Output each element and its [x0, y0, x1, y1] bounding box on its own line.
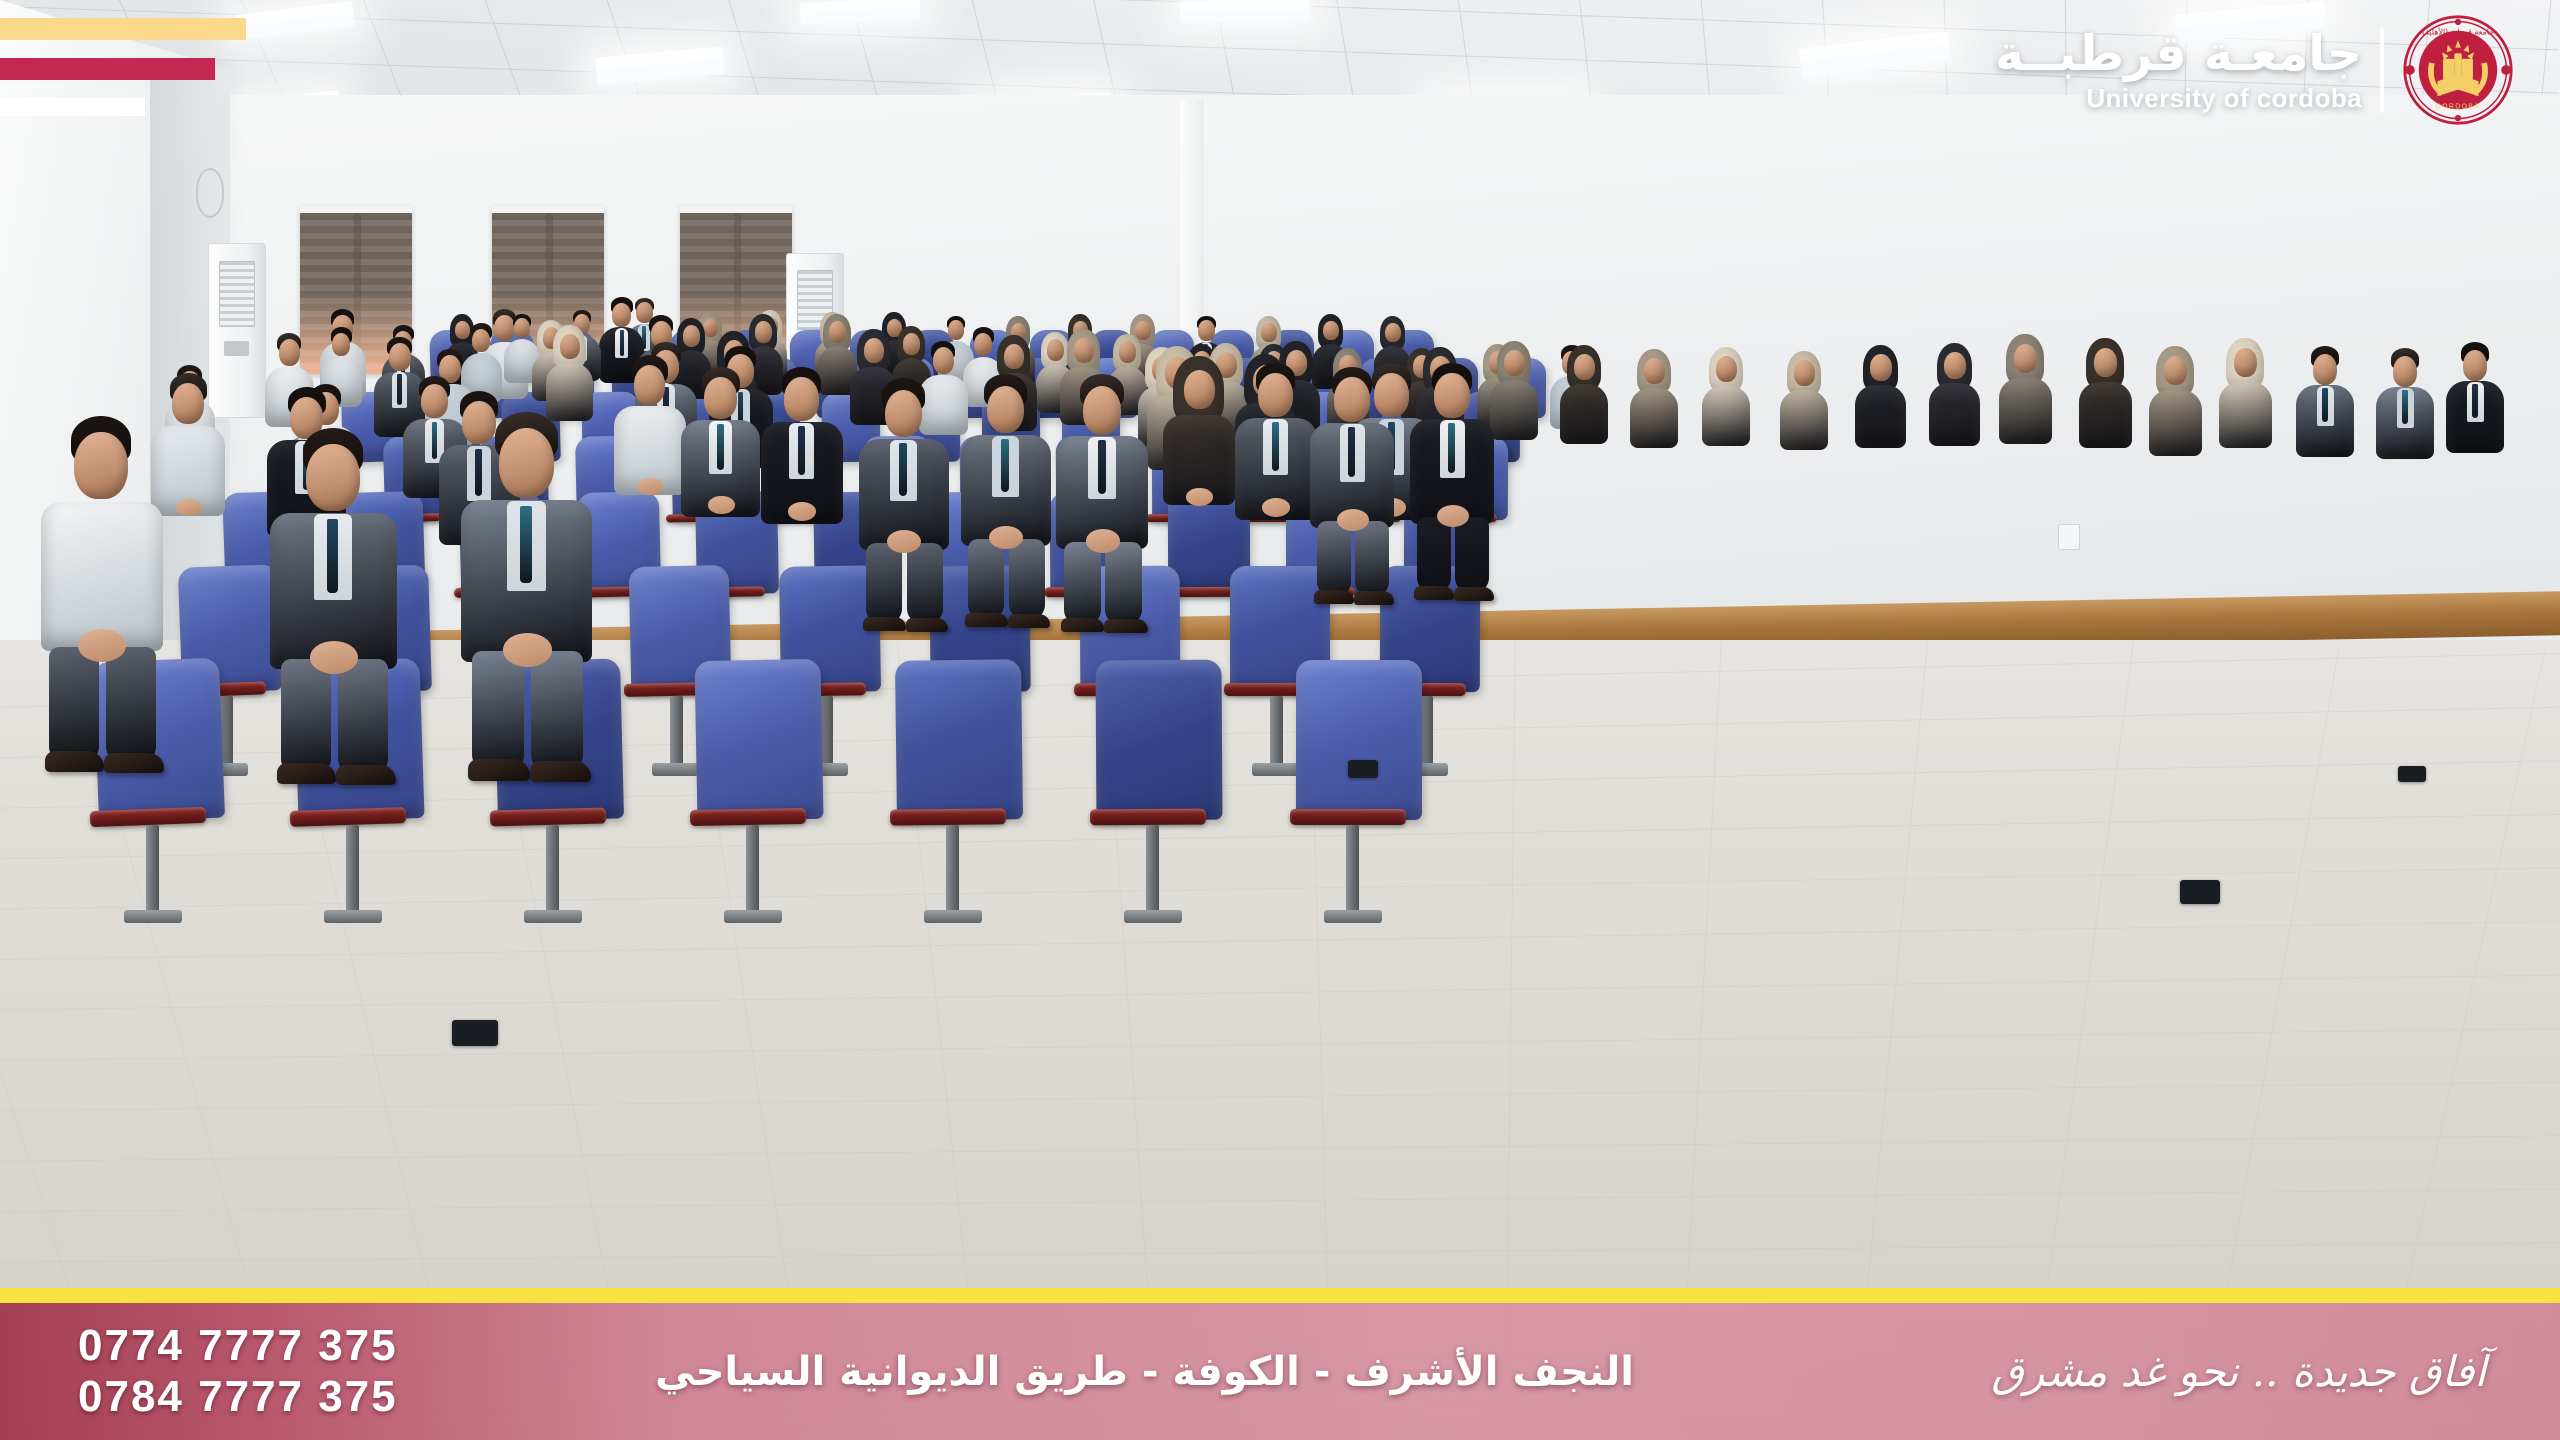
seat-armrest: [890, 808, 1006, 825]
face: [1870, 354, 1892, 381]
necktie: [327, 519, 338, 593]
face: [462, 401, 496, 444]
brand-name-arabic: جامعـة قرطبــة: [1995, 29, 2362, 78]
white-accent-bar: [0, 98, 145, 116]
shoe: [336, 765, 396, 785]
seat-foot: [1324, 910, 1382, 923]
seal-bottom-label: CORDOBA: [2436, 103, 2481, 110]
seat-foot: [524, 910, 582, 923]
face: [1374, 373, 1409, 417]
shoe: [277, 763, 337, 783]
face: [472, 329, 490, 352]
seat-armrest: [490, 807, 606, 826]
auditorium-seat: [694, 659, 823, 821]
face: [1385, 323, 1401, 342]
seat-leg: [1346, 825, 1359, 913]
face: [1716, 356, 1737, 382]
smartphone: [452, 1020, 498, 1046]
brand-name-english: University of cordoba: [1995, 85, 2362, 111]
seat-foot: [1124, 910, 1182, 923]
necktie: [798, 426, 805, 474]
face: [279, 339, 300, 366]
ac-unit-left: [208, 243, 266, 418]
leg: [907, 543, 943, 624]
smartphone: [1348, 760, 1378, 778]
face: [948, 320, 964, 340]
leg: [1064, 542, 1101, 624]
face: [1135, 321, 1151, 340]
face: [1334, 377, 1369, 422]
shoe: [1354, 591, 1394, 605]
auditorium-seat: [895, 659, 1023, 821]
torso: [1560, 384, 1608, 444]
face: [885, 390, 923, 438]
face: [634, 365, 665, 405]
contact-phone-numbers: 0774 7777 375 0784 7777 375: [58, 1321, 398, 1421]
face: [332, 333, 350, 356]
smartphone: [2180, 880, 2220, 904]
face: [306, 444, 359, 511]
lecture-hall-photo: [0, 0, 2560, 1440]
seat-armrest: [1090, 808, 1206, 825]
face: [1083, 386, 1122, 435]
torso: [546, 363, 593, 421]
face: [2094, 348, 2117, 377]
smartphone: [2398, 766, 2426, 782]
face: [1261, 323, 1277, 342]
seat-foot: [924, 910, 982, 923]
shoe: [45, 751, 105, 771]
seal-top-label: جامعة قرطبة (الأهلية): [2422, 27, 2494, 37]
leg: [1417, 517, 1451, 593]
face: [494, 315, 514, 341]
leg: [1317, 521, 1351, 597]
hands: [78, 629, 126, 662]
torso: [919, 375, 968, 435]
face: [1004, 344, 1024, 369]
seat-leg: [546, 825, 559, 913]
gold-accent-bar: [0, 18, 246, 40]
seat-foot: [124, 910, 182, 923]
leg: [472, 651, 524, 769]
leg: [968, 539, 1004, 620]
face: [704, 377, 737, 419]
shoe: [906, 618, 948, 632]
torso: [2149, 390, 2203, 457]
necktie: [1448, 423, 1455, 473]
leg: [1455, 517, 1489, 593]
seat-foot: [652, 763, 698, 776]
torso: [1780, 390, 1828, 450]
brand-divider: [2380, 27, 2384, 113]
face: [2463, 350, 2487, 381]
seat-foot: [324, 910, 382, 923]
torso: [1702, 386, 1750, 446]
wall-socket-icon: [2058, 524, 2080, 550]
face: [1944, 352, 1966, 379]
shoe: [1061, 618, 1104, 633]
face: [1644, 358, 1665, 384]
necktie: [1001, 439, 1009, 492]
face: [1574, 354, 1595, 380]
shoe: [104, 753, 164, 773]
ceiling-light-8: [1180, 0, 1310, 23]
hands: [708, 496, 735, 514]
face: [683, 325, 700, 346]
necktie: [1098, 440, 1106, 494]
seat-armrest: [290, 807, 406, 827]
slogan-line: آفاق جديدة .. نحو غد مشرق: [1991, 1347, 2502, 1396]
shoe: [1414, 586, 1454, 600]
leg: [1009, 539, 1045, 620]
face: [499, 428, 554, 498]
seat-armrest: [1290, 809, 1406, 825]
poster-canvas: جامعـة قرطبــة University of cordoba: [0, 0, 2560, 1440]
seal-icon: CORDOBA جامعة قرطبة (الأهلية): [2402, 14, 2514, 126]
shoe: [863, 617, 905, 631]
necktie: [2322, 388, 2327, 422]
hands: [1086, 529, 1121, 553]
torso: [1855, 385, 1905, 447]
face: [1504, 350, 1525, 376]
necktie: [1272, 422, 1279, 470]
seat-foot: [724, 910, 782, 923]
torso: [2219, 382, 2273, 449]
face: [172, 383, 204, 424]
face: [974, 333, 992, 356]
hands: [1437, 505, 1469, 527]
face: [987, 386, 1025, 434]
face: [1047, 339, 1064, 360]
face: [1198, 320, 1215, 341]
face: [1434, 373, 1469, 418]
face: [933, 347, 954, 374]
hands: [638, 478, 663, 495]
necktie: [397, 374, 402, 405]
phone-number-1: 0774 7777 375: [78, 1321, 398, 1371]
seat-leg: [746, 825, 759, 913]
necktie: [1348, 427, 1355, 477]
shoe: [1454, 587, 1494, 601]
face: [389, 343, 411, 371]
face: [2313, 354, 2337, 385]
shoe: [965, 613, 1007, 627]
face: [1323, 321, 1339, 340]
shoe: [530, 761, 592, 782]
shoe: [1104, 619, 1147, 634]
necktie: [432, 422, 438, 459]
face: [1794, 360, 1815, 386]
seat-leg: [1270, 696, 1283, 765]
leg: [338, 659, 389, 773]
face: [784, 377, 819, 421]
leg: [106, 647, 157, 761]
face: [612, 303, 631, 327]
face: [560, 334, 580, 359]
face: [455, 321, 470, 340]
hands: [1337, 509, 1369, 531]
phone-number-2: 0784 7777 375: [78, 1372, 398, 1422]
auditorium-seat: [1096, 660, 1223, 821]
seat-leg: [146, 825, 159, 913]
seat-leg: [670, 696, 683, 765]
seat-armrest: [690, 808, 806, 826]
footer-yellow-stripe: [0, 1288, 2560, 1303]
torso: [1630, 388, 1678, 448]
face: [2393, 356, 2417, 387]
face: [1184, 370, 1215, 409]
face: [514, 318, 530, 338]
hands: [310, 641, 358, 674]
face: [2014, 344, 2037, 373]
footer-banner: 0774 7777 375 0784 7777 375 النجف الأشرف…: [0, 1288, 2560, 1440]
face: [1258, 373, 1293, 417]
face: [421, 384, 448, 418]
face: [903, 333, 920, 354]
crimson-accent-bar: [0, 58, 215, 80]
leg: [49, 647, 100, 761]
face: [829, 321, 846, 342]
face: [755, 321, 772, 342]
necktie: [717, 424, 724, 470]
necktie: [520, 506, 531, 583]
face: [864, 338, 884, 363]
leg: [1105, 542, 1142, 624]
necktie: [899, 443, 907, 496]
hands: [503, 633, 553, 667]
hands: [1262, 498, 1290, 516]
seat-foot: [1252, 763, 1298, 776]
hands: [788, 502, 816, 520]
leg: [531, 651, 583, 769]
seat-leg: [1146, 825, 1159, 913]
face: [2234, 348, 2257, 377]
shoe: [468, 759, 530, 780]
necktie: [2472, 384, 2477, 418]
seat-leg: [346, 825, 359, 913]
auditorium-seat: [1296, 660, 1422, 820]
hands: [1186, 488, 1213, 506]
necktie: [2402, 390, 2407, 424]
brand-wordmark: جامعـة قرطبــة University of cordoba: [1995, 29, 2362, 111]
face: [1074, 338, 1094, 363]
wall-bracket-icon: [196, 168, 224, 218]
torso: [1929, 383, 1979, 445]
brand-lockup: جامعـة قرطبــة University of cordoba: [1995, 14, 2514, 126]
seat-leg: [946, 825, 959, 913]
university-seal-logo: CORDOBA جامعة قرطبة (الأهلية): [2402, 14, 2514, 126]
torso: [1999, 378, 2053, 445]
necktie: [620, 330, 624, 356]
face: [2164, 356, 2187, 385]
torso: [1490, 380, 1538, 440]
face: [1119, 341, 1136, 362]
shoe: [1008, 614, 1050, 628]
leg: [281, 659, 332, 773]
face: [74, 432, 127, 499]
shoe: [1314, 590, 1354, 604]
necktie: [475, 449, 482, 496]
torso: [2079, 382, 2133, 449]
address-line: النجف الأشرف - الكوفة - طريق الديوانية ا…: [655, 1349, 1634, 1395]
leg: [1355, 521, 1389, 597]
leg: [866, 543, 902, 624]
